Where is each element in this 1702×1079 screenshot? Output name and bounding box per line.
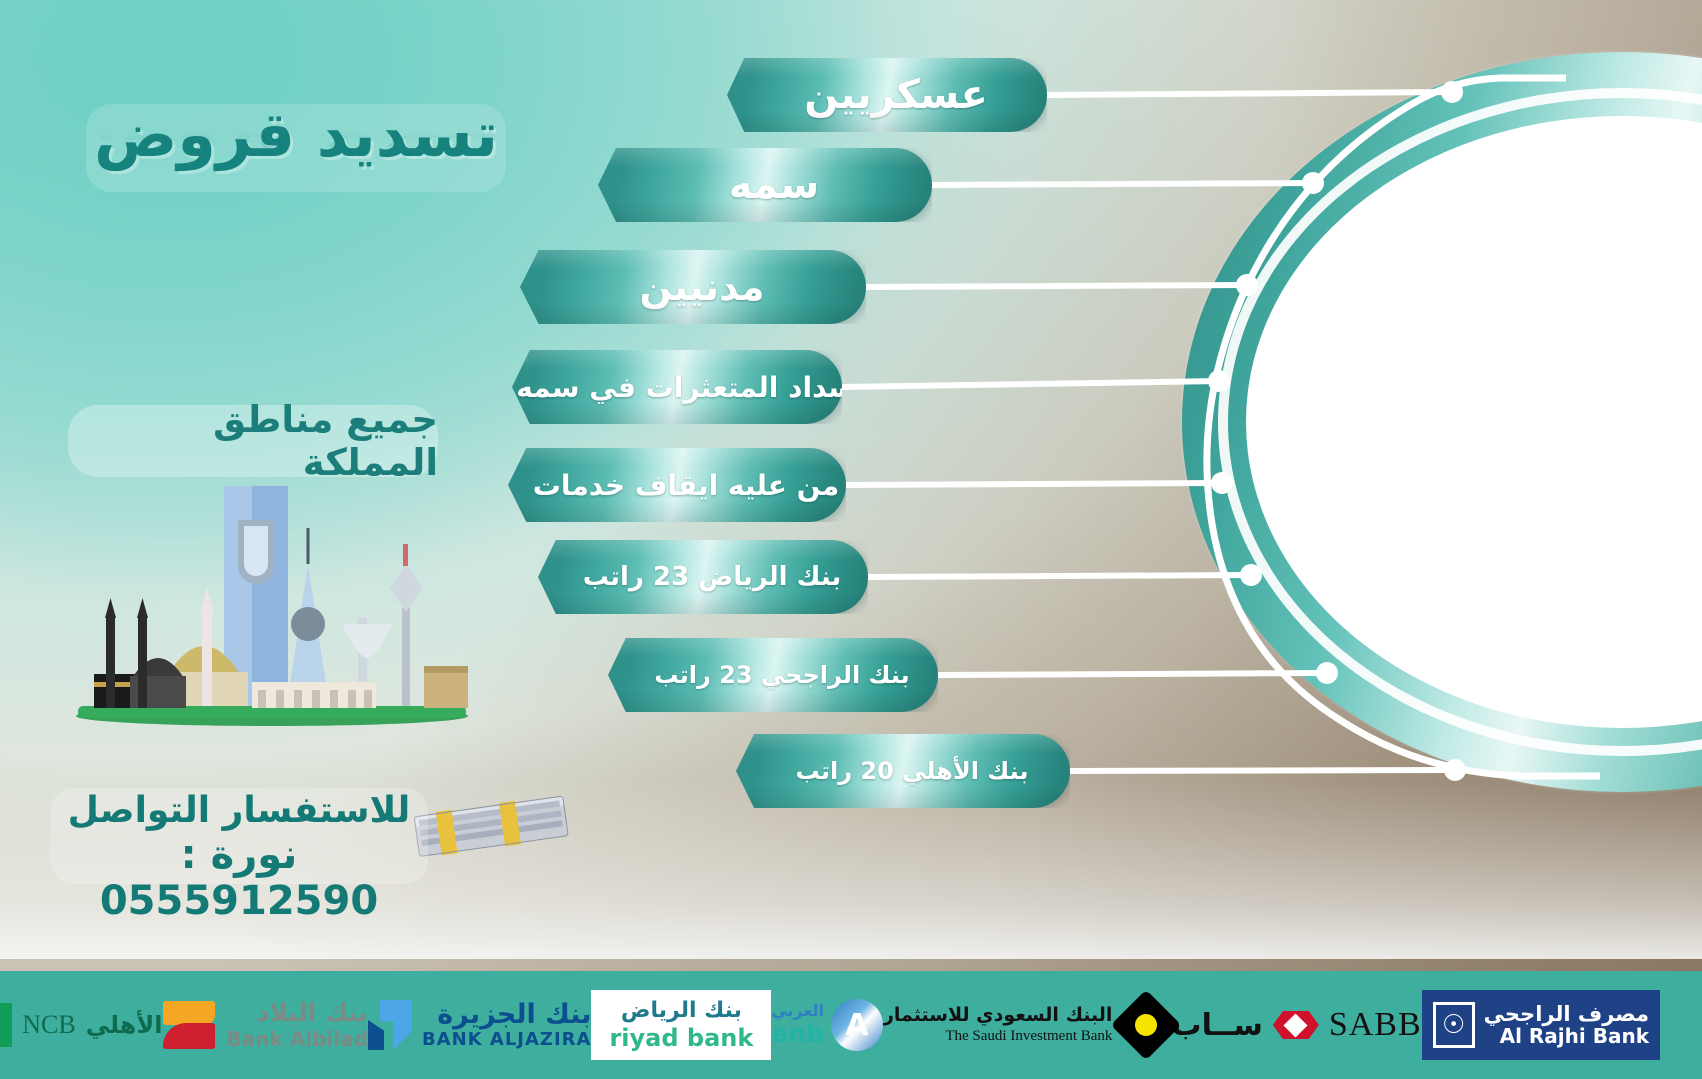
logo-ncb: الأهلي NCB: [0, 990, 163, 1060]
logo-saudi-investment-bank: البنك السعودي للاستثمار The Saudi Invest…: [883, 990, 1171, 1060]
saudi-investment-diamond-icon: [1111, 990, 1182, 1061]
logo-arab-national-bank: العربي anb: [771, 990, 883, 1060]
logo-aljazira-english: BANK ALJAZIRA: [422, 1029, 592, 1050]
service-banner[interactable]: بنك الأهلي 20 راتب: [736, 734, 1070, 808]
service-banner[interactable]: من عليه ايقاف خدمات: [508, 448, 846, 522]
service-banner-label: عسكريين: [752, 72, 1022, 118]
anb-globe-icon: [831, 999, 883, 1051]
saudi-skyline-illustration: [72, 468, 472, 726]
service-banner-label: من عليه ايقاف خدمات: [481, 469, 873, 502]
contact-prompt: للاستفسار التواصل: [50, 790, 428, 831]
logo-aljazira-arabic: بنك الجزيرة: [437, 999, 591, 1030]
logo-sib-english: The Saudi Investment Bank: [945, 1028, 1112, 1044]
service-banner[interactable]: بنك الراجحي 23 راتب: [608, 638, 938, 712]
logo-sabb-arabic: ســاب: [1171, 1008, 1262, 1043]
logo-albilad-arabic: بنك البلاد: [256, 998, 368, 1027]
hsbc-diamond-icon: [1273, 1011, 1319, 1039]
logo-albilad-english: Bank Albilad: [227, 1027, 368, 1051]
service-banner-label: سداد المتعثرات في سمه: [464, 371, 890, 404]
service-banner-label: سمه: [677, 162, 853, 208]
coverage-badge: جميع مناطق المملكة: [68, 405, 438, 477]
service-banner[interactable]: بنك الرياض 23 راتب: [538, 540, 868, 614]
logo-ncb-arabic: الأهلي: [86, 1011, 163, 1039]
bank-logo-strip: مصرف الراجحي Al Rajhi Bank ☉ SABB ســاب …: [0, 971, 1702, 1079]
logo-sabb: SABB ســاب: [1171, 990, 1421, 1060]
al-rajhi-mark-icon: ☉: [1433, 1002, 1475, 1048]
logo-sib-arabic: البنك السعودي للاستثمار: [883, 1004, 1112, 1026]
logo-bank-albilad: بنك البلاد Bank Albilad: [163, 990, 368, 1060]
ncb-mark-icon: [0, 1003, 12, 1047]
logo-al-rajhi-english: Al Rajhi Bank: [1484, 1026, 1649, 1047]
contact-phone[interactable]: نورة : 0555912590: [50, 832, 428, 924]
logo-sabb-english: SABB: [1329, 1006, 1422, 1044]
service-banner[interactable]: سمه: [598, 148, 932, 222]
logo-bank-aljazira: بنك الجزيرة BANK ALJAZIRA: [368, 990, 592, 1060]
logo-riyad-arabic: بنك الرياض: [621, 998, 742, 1023]
poster-root: تسديد قروض تسديد قروض جميع مناطق المملكة: [0, 0, 1702, 1079]
service-banner-label: بنك الراجحي 23 راتب: [602, 661, 943, 689]
logo-riyad-bank: بنك الرياض riyad bank: [591, 990, 771, 1060]
page-title-reflection: تسديد قروض: [86, 128, 506, 160]
logo-al-rajhi-arabic: مصرف الراجحي: [1484, 1003, 1649, 1025]
logo-anb-arabic: العربي: [771, 1001, 824, 1020]
service-banner-label: بنك الأهلي 20 راتب: [744, 757, 1063, 785]
logo-riyad-english: riyad bank: [609, 1024, 753, 1052]
albilad-mark-icon: [163, 999, 215, 1051]
logo-ncb-english: NCB: [22, 1010, 75, 1040]
aljazira-mark-icon: [368, 1000, 412, 1050]
service-banner[interactable]: مدنيين: [520, 250, 866, 324]
service-banner-label: مدنيين: [588, 265, 799, 309]
service-banner-label: بنك الرياض 23 راتب: [531, 562, 875, 592]
service-banner[interactable]: سداد المتعثرات في سمه: [512, 350, 842, 424]
service-banner[interactable]: عسكريين: [727, 58, 1047, 132]
logo-al-rajhi: مصرف الراجحي Al Rajhi Bank ☉: [1422, 990, 1660, 1060]
logo-anb-english: anb: [771, 1019, 824, 1048]
